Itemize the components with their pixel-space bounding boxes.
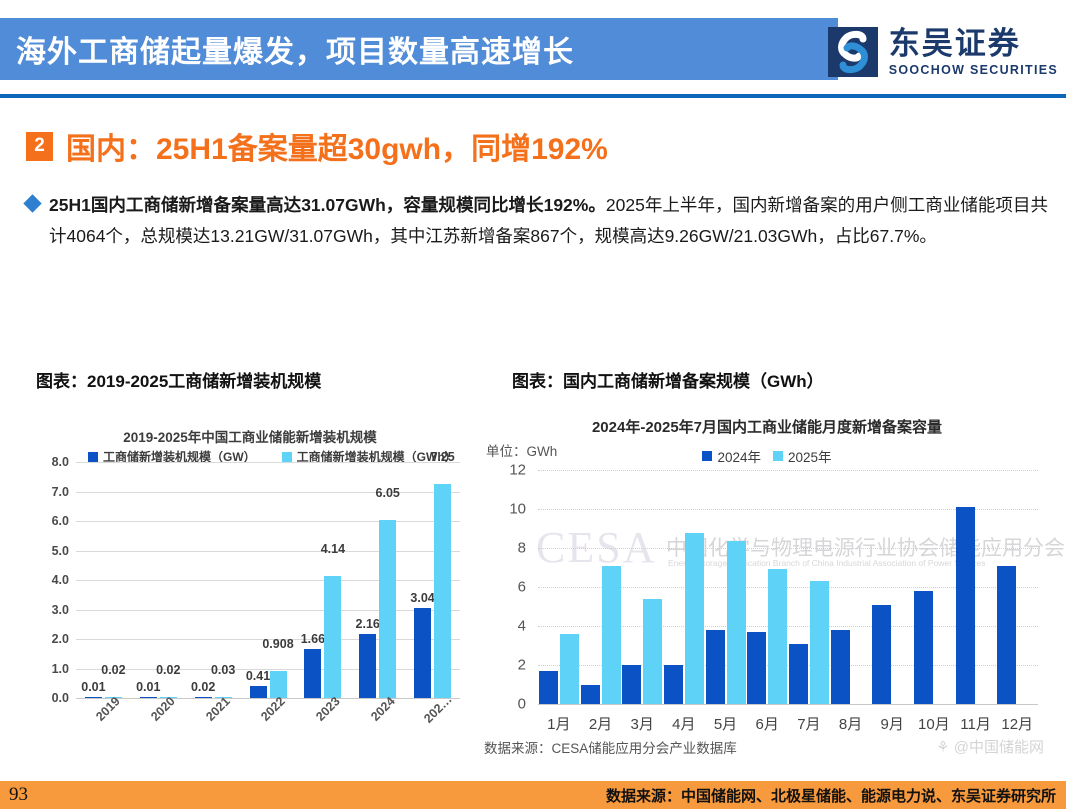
y-axis-tick-label: 2 xyxy=(518,657,526,674)
bar-value-label: 0.01 xyxy=(81,680,105,694)
bar[interactable]: 2.16 xyxy=(359,634,376,698)
legend-swatch-gw xyxy=(88,452,98,462)
bar-group: 5月 xyxy=(705,470,747,704)
x-axis-tick-label: 8月 xyxy=(839,713,862,734)
brand-name-en: SOOCHOW SECURITIES xyxy=(889,64,1058,77)
brand-wordmark: 东吴证券 SOOCHOW SECURITIES xyxy=(889,28,1058,77)
slide-title-bar: 海外工商储起量爆发，项目数量高速增长 xyxy=(0,18,838,80)
bar-value-label: 4.14 xyxy=(321,542,345,556)
bar[interactable]: 7.25 xyxy=(434,484,451,698)
legend-label-2024: 2024年 xyxy=(717,446,761,466)
x-axis-tick-label: 2月 xyxy=(589,713,612,734)
x-axis-line xyxy=(538,704,1038,705)
bar-value-label: 0.908 xyxy=(262,637,293,651)
chart-right-source: 数据来源：CESA储能应用分会产业数据库 xyxy=(484,737,737,757)
bar[interactable] xyxy=(789,644,808,704)
page-title: 海外工商储起量爆发，项目数量高速增长 xyxy=(0,27,574,71)
baidu-watermark: ⚘ @中国储能网 xyxy=(936,736,1044,757)
bar-group: 3.047.25202… xyxy=(405,462,460,698)
chart-installed-capacity: 2019-2025年中国工商业储能新增装机规模 工商储新增装机规模（GW） 工商… xyxy=(30,404,470,756)
bar-group: 1月 xyxy=(538,470,580,704)
bar[interactable] xyxy=(747,632,766,704)
bar[interactable] xyxy=(956,507,975,704)
y-axis-tick-label: 6.0 xyxy=(52,514,69,528)
section-heading: 2 国内：25H1备案量超30gwh，同增192% xyxy=(26,124,608,168)
bar[interactable]: 3.04 xyxy=(414,608,431,698)
chart-caption-left: 图表：2019-2025工商储新增装机规模 xyxy=(36,367,321,392)
bar[interactable] xyxy=(914,591,933,704)
legend-swatch-2024 xyxy=(702,451,712,461)
bar-group: 4月 xyxy=(663,470,705,704)
diamond-bullet-icon xyxy=(23,194,41,212)
legend-item-2025: 2025年 xyxy=(773,446,832,466)
legend-label-2025: 2025年 xyxy=(788,446,832,466)
x-axis-tick-label: 7月 xyxy=(797,713,820,734)
legend-swatch-gwh xyxy=(282,452,292,462)
y-axis-tick-label: 2.0 xyxy=(52,632,69,646)
y-axis-tick-label: 4.0 xyxy=(52,573,69,587)
bar-value-label: 0.41 xyxy=(246,669,270,683)
bar[interactable] xyxy=(622,665,641,704)
x-axis-tick-label: 5月 xyxy=(714,713,737,734)
x-axis-tick-label: 9月 xyxy=(881,713,904,734)
section-title: 国内：25H1备案量超30gwh，同增192% xyxy=(66,124,608,168)
key-point-bullet: 25H1国内工商储新增备案量高达31.07GWh，容量规模同比增长192%。20… xyxy=(26,190,1048,252)
chart-monthly-filings: 2024年-2025年7月国内工商业储能月度新增备案容量 2024年 2025年… xyxy=(484,404,1050,756)
y-axis-tick-label: 7.0 xyxy=(52,485,69,499)
y-axis-tick-label: 1.0 xyxy=(52,662,69,676)
soochow-logo-icon xyxy=(827,26,879,78)
x-axis-tick-label: 6月 xyxy=(756,713,779,734)
bar-value-label: 2.16 xyxy=(356,617,380,631)
bar[interactable]: 0.01 xyxy=(85,697,102,699)
bar[interactable] xyxy=(643,599,662,704)
bar-group: 11月 xyxy=(955,470,997,704)
bar-value-label: 3.04 xyxy=(410,591,434,605)
bar-group: 8月 xyxy=(830,470,872,704)
x-axis-tick-label: 4月 xyxy=(672,713,695,734)
bar[interactable] xyxy=(685,533,704,704)
section-number-badge: 2 xyxy=(26,132,53,161)
header-divider xyxy=(0,94,1066,98)
chart-right-legend: 2024年 2025年 xyxy=(484,446,1050,466)
chart-caption-right: 图表：国内工商储新增备案规模（GWh） xyxy=(512,367,824,392)
bar[interactable]: 0.01 xyxy=(140,697,157,699)
brand-name-cn: 东吴证券 xyxy=(889,28,1058,59)
brand-logo: 东吴证券 SOOCHOW SECURITIES xyxy=(827,26,1058,78)
chart-left-plot-area: 8.07.06.05.04.03.02.01.00.00.010.0220190… xyxy=(76,462,460,698)
y-axis-tick-label: 0 xyxy=(518,696,526,713)
bar[interactable] xyxy=(810,581,829,704)
y-axis-tick-label: 3.0 xyxy=(52,603,69,617)
x-axis-tick-label: 10月 xyxy=(918,713,950,734)
bar[interactable] xyxy=(872,605,891,704)
x-axis-tick-label: 11月 xyxy=(960,713,991,734)
chart-left-title: 2019-2025年中国工商业储能新增装机规模 xyxy=(30,426,470,446)
bar-group: 1.664.142023 xyxy=(295,462,350,698)
y-axis-tick-label: 5.0 xyxy=(52,544,69,558)
y-axis-tick-label: 12 xyxy=(509,462,526,479)
chart-right-unit-label: 单位：GWh xyxy=(486,440,557,460)
bullet-paragraph: 25H1国内工商储新增备案量高达31.07GWh，容量规模同比增长192%。20… xyxy=(49,190,1048,252)
bar-value-label: 6.05 xyxy=(376,486,400,500)
slide-root: 海外工商储起量爆发，项目数量高速增长 东吴证券 SOOCHOW SECURITI… xyxy=(0,0,1066,809)
y-axis-tick-label: 8.0 xyxy=(52,455,69,469)
bar[interactable] xyxy=(706,630,725,704)
bar[interactable]: 4.14 xyxy=(324,576,341,698)
bar[interactable] xyxy=(768,569,787,704)
bar-group: 10月 xyxy=(913,470,955,704)
bar-value-label: 1.66 xyxy=(301,632,325,646)
bar[interactable]: 0.02 xyxy=(195,697,212,699)
bar-group: 3月 xyxy=(621,470,663,704)
bar-group: 7月 xyxy=(788,470,830,704)
x-axis-tick-label: 12月 xyxy=(1001,713,1033,734)
bar[interactable]: 6.05 xyxy=(379,520,396,698)
bar-group: 0.010.022019 xyxy=(76,462,131,698)
bar[interactable] xyxy=(602,566,621,704)
bullet-lead-text: 25H1国内工商储新增备案量高达31.07GWh，容量规模同比增长192%。 xyxy=(49,195,606,215)
bar-group: 0.410.9082022 xyxy=(241,462,296,698)
chart-right-title: 2024年-2025年7月国内工商业储能月度新增备案容量 xyxy=(484,416,1050,437)
legend-item-2024: 2024年 xyxy=(702,446,761,466)
bar-value-label: 0.02 xyxy=(156,663,180,677)
bar[interactable] xyxy=(539,671,558,704)
bar-group: 0.010.022020 xyxy=(131,462,186,698)
bar-value-label: 0.03 xyxy=(211,663,235,677)
bar-groups: 0.010.0220190.010.0220200.020.0320210.41… xyxy=(76,462,460,698)
bar-group: 2.166.052024 xyxy=(350,462,405,698)
y-axis-tick-label: 8 xyxy=(518,540,526,557)
slide-footer: 93 数据来源：中国储能网、北极星储能、能源电力说、东吴证券研究所 xyxy=(0,781,1066,809)
bar-group: 6月 xyxy=(746,470,788,704)
bar[interactable] xyxy=(831,630,850,704)
chart-right-plot-area: 1210864201月2月3月4月5月6月7月8月9月10月11月12月 xyxy=(538,470,1038,704)
bar[interactable] xyxy=(560,634,579,704)
bar-value-label: 7.25 xyxy=(430,450,454,464)
bar-group: 0.020.032021 xyxy=(186,462,241,698)
bar-group: 9月 xyxy=(871,470,913,704)
footer-source: 数据来源：中国储能网、北极星储能、能源电力说、东吴证券研究所 xyxy=(606,785,1056,806)
bar[interactable] xyxy=(581,685,600,705)
bar[interactable] xyxy=(727,541,746,704)
bar-group: 12月 xyxy=(996,470,1038,704)
bar-group: 2月 xyxy=(580,470,622,704)
x-axis-tick-label: 3月 xyxy=(631,713,654,734)
bar[interactable] xyxy=(997,566,1016,704)
bar[interactable] xyxy=(664,665,683,704)
bar-value-label: 0.02 xyxy=(101,663,125,677)
legend-swatch-2025 xyxy=(773,451,783,461)
x-axis-line xyxy=(76,698,460,699)
y-axis-tick-label: 6 xyxy=(518,579,526,596)
bar-value-label: 0.01 xyxy=(136,680,160,694)
y-axis-tick-label: 4 xyxy=(518,618,526,635)
y-axis-tick-label: 0.0 xyxy=(52,691,69,705)
page-number: 93 xyxy=(0,784,28,806)
bar[interactable]: 1.66 xyxy=(304,649,321,698)
x-axis-tick-label: 1月 xyxy=(547,713,570,734)
bar-groups: 1月2月3月4月5月6月7月8月9月10月11月12月 xyxy=(538,470,1038,704)
bar-value-label: 0.02 xyxy=(191,680,215,694)
bar[interactable]: 0.41 xyxy=(250,686,267,698)
y-axis-tick-label: 10 xyxy=(509,501,526,518)
